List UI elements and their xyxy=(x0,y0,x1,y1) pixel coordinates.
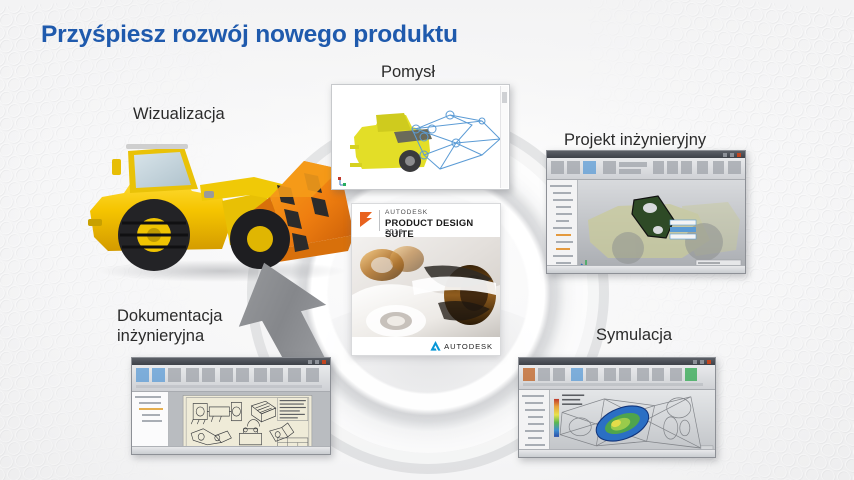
suite-header: AUTODESK PRODUCT DESIGN SUITE 2016 xyxy=(352,204,500,237)
model-browser-tree[interactable] xyxy=(547,180,578,273)
close-icon[interactable] xyxy=(707,360,711,364)
window-statusbar xyxy=(547,265,745,273)
label-visualization: Wizualizacja xyxy=(133,104,225,124)
minimize-icon[interactable] xyxy=(308,360,312,364)
drawing-sheet-viewport[interactable] xyxy=(169,392,330,454)
ribbon-toolbar[interactable] xyxy=(519,365,715,390)
suite-year: 2016 xyxy=(385,227,403,236)
sketch-window[interactable] xyxy=(331,84,510,190)
drawing-browser-tree[interactable] xyxy=(132,392,169,454)
3d-viewport[interactable] xyxy=(578,180,745,273)
close-icon[interactable] xyxy=(737,153,741,157)
window-statusbar xyxy=(519,449,715,457)
window-body xyxy=(132,392,330,454)
close-icon[interactable] xyxy=(322,360,326,364)
minimize-icon[interactable] xyxy=(723,153,727,157)
autodesk-logo: AUTODESK xyxy=(430,341,493,351)
label-documentation: Dokumentacja inżynieryjna xyxy=(117,306,222,346)
window-titlebar[interactable] xyxy=(519,358,715,365)
autodesk-a-icon xyxy=(430,341,441,351)
maximize-icon[interactable] xyxy=(315,360,319,364)
window-titlebar[interactable] xyxy=(132,358,330,365)
suite-footer: AUTODESK xyxy=(352,337,500,355)
cad-assembly-window[interactable] xyxy=(546,150,746,274)
sketch-canvas[interactable] xyxy=(332,85,509,189)
window-body xyxy=(547,180,745,273)
fea-viewport[interactable] xyxy=(550,390,715,457)
scrollbar-thumb[interactable] xyxy=(502,92,507,103)
sketch-scrollbar[interactable] xyxy=(500,86,508,188)
suite-brand: AUTODESK xyxy=(385,209,428,216)
suite-divider xyxy=(379,210,380,231)
window-titlebar[interactable] xyxy=(547,151,745,158)
minimize-icon[interactable] xyxy=(693,360,697,364)
suite-artwork xyxy=(352,237,500,337)
maximize-icon[interactable] xyxy=(700,360,704,364)
label-simulation: Symulacja xyxy=(596,325,672,345)
drawing-documentation-window[interactable] xyxy=(131,357,331,455)
sketch-drawing xyxy=(332,85,509,189)
window-statusbar xyxy=(132,446,330,454)
simulation-browser-tree[interactable] xyxy=(519,390,550,457)
fea-simulation-window[interactable] xyxy=(518,357,716,458)
page-title: Przyśpiesz rozwój nowego produktu xyxy=(41,21,458,49)
window-body xyxy=(519,390,715,457)
label-idea: Pomysł xyxy=(381,62,435,82)
label-engineering-design: Projekt inżynieryjny xyxy=(564,130,706,150)
autodesk-wordmark: AUTODESK xyxy=(444,342,493,351)
product-design-suite-box: AUTODESK PRODUCT DESIGN SUITE 2016 xyxy=(351,203,501,356)
slide-canvas: Przyśpiesz rozwój nowego produktu xyxy=(0,0,854,480)
ribbon-toolbar[interactable] xyxy=(547,158,745,180)
ribbon-toolbar[interactable] xyxy=(132,365,330,392)
autodesk-flag-icon xyxy=(359,211,373,228)
maximize-icon[interactable] xyxy=(730,153,734,157)
